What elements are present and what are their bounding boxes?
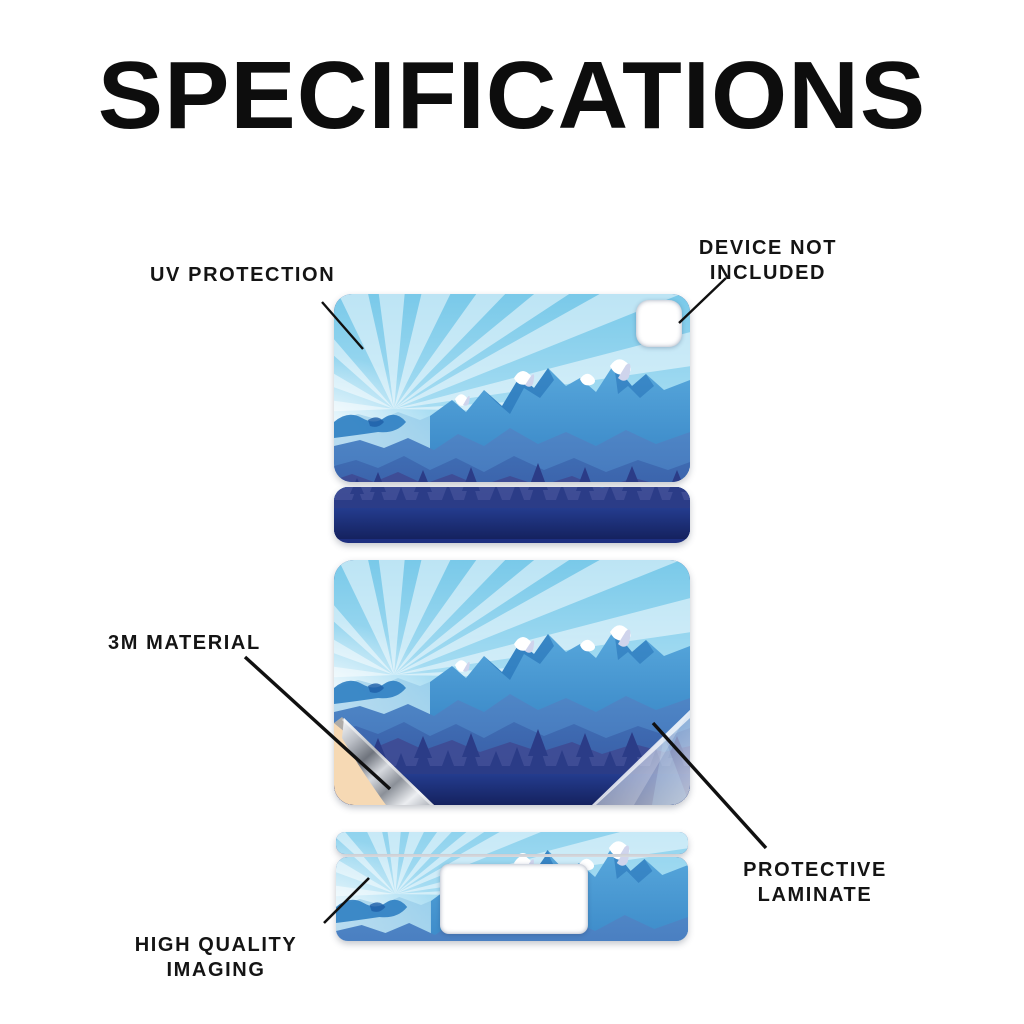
callout-high-quality-imaging: HIGH QUALITY IMAGING xyxy=(96,933,336,983)
laptop-base-top-band[interactable] xyxy=(336,832,688,854)
page-title: SPECIFICATIONS xyxy=(0,48,1024,144)
callout-3m-material: 3M MATERIAL xyxy=(108,631,261,656)
callout-protective-laminate: PROTECTIVE LAMINATE xyxy=(700,858,930,908)
skin-artwork-tablet-strip xyxy=(334,487,690,543)
skin-artwork-base-band xyxy=(336,832,688,854)
trackpad-cutout xyxy=(440,864,588,934)
callout-device-not-included: DEVICE NOT INCLUDED xyxy=(668,236,868,286)
laptop-lid-skin[interactable] xyxy=(334,560,690,805)
skin-artwork-laptop-lid xyxy=(334,560,690,805)
specifications-page: SPECIFICATIONS xyxy=(0,0,1024,1024)
camera-cutout xyxy=(636,300,682,347)
tablet-back-bottom-strip[interactable] xyxy=(334,487,690,543)
callout-uv-protection: UV PROTECTION xyxy=(150,263,335,288)
